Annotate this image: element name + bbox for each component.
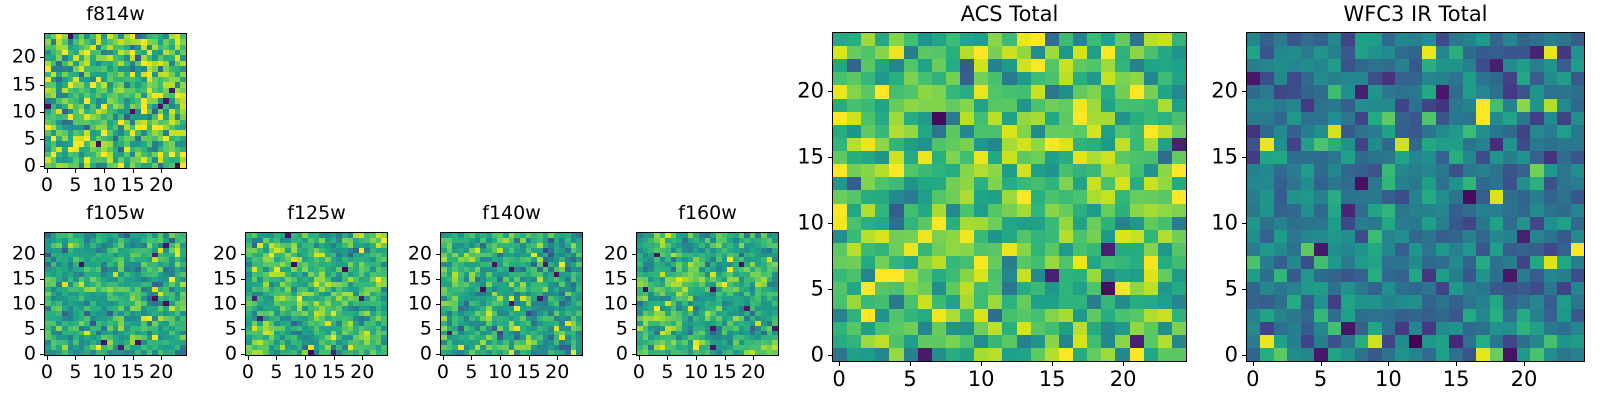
xtick-wfc3-5 [1321, 362, 1322, 366]
xticklabel-f140w-5: 5 [465, 363, 477, 382]
xticklabel-wfc3-15: 15 [1443, 369, 1470, 390]
xticklabel-acs-10: 10 [968, 369, 995, 390]
xticklabel-f125w-10: 10 [293, 363, 317, 382]
yticklabel-f105w-20: 20 [0, 245, 36, 264]
heatmap-image-acs [833, 33, 1186, 361]
heatmap-axes-f105w [44, 232, 187, 356]
xticklabel-f814w-10: 10 [92, 176, 116, 195]
ytick-f125w-15 [241, 279, 245, 280]
xtick-f160w-15 [725, 356, 726, 360]
yticklabel-f814w-5: 5 [0, 130, 36, 149]
heatmap-axes-acs [832, 32, 1187, 362]
xticklabel-f140w-15: 15 [517, 363, 541, 382]
xticklabel-f814w-5: 5 [69, 176, 81, 195]
xtick-f160w-10 [696, 356, 697, 360]
xtick-wfc3-10 [1388, 362, 1389, 366]
heatmap-axes-f814w [44, 33, 187, 169]
xticklabel-acs-15: 15 [1039, 369, 1066, 390]
yticklabel-f105w-0: 0 [0, 344, 36, 363]
ytick-f160w-5 [632, 329, 636, 330]
xtick-acs-5 [910, 362, 911, 366]
yticklabel-wfc3-10: 10 [1196, 213, 1238, 234]
ytick-f140w-20 [436, 254, 440, 255]
xtick-f140w-5 [471, 356, 472, 360]
xticklabel-f160w-5: 5 [661, 363, 673, 382]
xticklabel-acs-0: 0 [832, 369, 845, 390]
xticklabel-f814w-0: 0 [41, 176, 53, 195]
xtick-f160w-0 [639, 356, 640, 360]
panel-f105w: f105w0510152005101520 [0, 0, 1600, 400]
ytick-acs-10 [828, 223, 832, 224]
heatmap-image-wfc3 [1247, 33, 1584, 361]
yticklabel-f140w-10: 10 [390, 294, 432, 313]
heatmap-image-f140w [441, 233, 582, 355]
xtick-acs-15 [1052, 362, 1053, 366]
ytick-wfc3-15 [1242, 157, 1246, 158]
xtick-f125w-15 [334, 356, 335, 360]
xtick-f105w-0 [47, 356, 48, 360]
xtick-wfc3-15 [1456, 362, 1457, 366]
yticklabel-f814w-20: 20 [0, 48, 36, 67]
ytick-f105w-5 [40, 329, 44, 330]
panel-f125w: f125w0510152005101520 [0, 0, 1600, 400]
panel-acs: ACS Total0510152005101520 [0, 0, 1600, 400]
ytick-f140w-0 [436, 354, 440, 355]
xticklabel-acs-20: 20 [1110, 369, 1137, 390]
heatmap-axes-f140w [440, 232, 583, 356]
panel-title-f140w: f140w [440, 204, 583, 223]
ytick-acs-15 [828, 157, 832, 158]
xticklabel-f125w-5: 5 [270, 363, 282, 382]
xticklabel-f814w-15: 15 [121, 176, 145, 195]
yticklabel-f814w-15: 15 [0, 75, 36, 94]
xtick-f814w-0 [47, 169, 48, 173]
xtick-f140w-0 [443, 356, 444, 360]
xticklabel-f160w-15: 15 [713, 363, 737, 382]
yticklabel-acs-15: 15 [782, 147, 824, 168]
xtick-f814w-5 [75, 169, 76, 173]
yticklabel-f160w-20: 20 [586, 245, 628, 264]
panel-title-acs: ACS Total [832, 4, 1187, 25]
ytick-f814w-15 [40, 85, 44, 86]
yticklabel-f814w-0: 0 [0, 157, 36, 176]
yticklabel-f105w-10: 10 [0, 294, 36, 313]
xtick-wfc3-20 [1524, 362, 1525, 366]
heatmap-axes-wfc3 [1246, 32, 1585, 362]
ytick-wfc3-10 [1242, 223, 1246, 224]
heatmap-image-f105w [45, 233, 186, 355]
xticklabel-wfc3-5: 5 [1314, 369, 1327, 390]
heatmap-axes-f160w [636, 232, 779, 356]
yticklabel-wfc3-0: 0 [1196, 345, 1238, 366]
yticklabel-f125w-0: 0 [195, 344, 237, 363]
yticklabel-wfc3-5: 5 [1196, 279, 1238, 300]
xtick-f140w-20 [557, 356, 558, 360]
xticklabel-f105w-5: 5 [69, 363, 81, 382]
yticklabel-f140w-5: 5 [390, 319, 432, 338]
heatmap-image-f125w [246, 233, 387, 355]
xtick-acs-10 [981, 362, 982, 366]
xticklabel-wfc3-20: 20 [1511, 369, 1538, 390]
yticklabel-wfc3-20: 20 [1196, 81, 1238, 102]
xticklabel-f125w-15: 15 [322, 363, 346, 382]
ytick-f814w-10 [40, 112, 44, 113]
xtick-acs-0 [839, 362, 840, 366]
xticklabel-f140w-0: 0 [437, 363, 449, 382]
xticklabel-f160w-20: 20 [741, 363, 765, 382]
yticklabel-acs-5: 5 [782, 279, 824, 300]
ytick-f105w-0 [40, 354, 44, 355]
xtick-f105w-15 [133, 356, 134, 360]
ytick-f160w-20 [632, 254, 636, 255]
xtick-f814w-10 [104, 169, 105, 173]
xtick-f160w-20 [753, 356, 754, 360]
xtick-f125w-10 [305, 356, 306, 360]
ytick-f125w-0 [241, 354, 245, 355]
yticklabel-f140w-20: 20 [390, 245, 432, 264]
xtick-f814w-15 [133, 169, 134, 173]
ytick-f160w-10 [632, 304, 636, 305]
xticklabel-f140w-10: 10 [488, 363, 512, 382]
yticklabel-f140w-15: 15 [390, 270, 432, 289]
ytick-f814w-20 [40, 57, 44, 58]
xtick-f125w-5 [276, 356, 277, 360]
xticklabel-wfc3-10: 10 [1375, 369, 1402, 390]
panel-f140w: f140w0510152005101520 [0, 0, 1600, 400]
xticklabel-f814w-20: 20 [149, 176, 173, 195]
ytick-f140w-15 [436, 279, 440, 280]
panel-title-f160w: f160w [636, 204, 779, 223]
xtick-f160w-5 [667, 356, 668, 360]
xticklabel-f105w-15: 15 [121, 363, 145, 382]
xtick-f125w-0 [248, 356, 249, 360]
xticklabel-acs-5: 5 [903, 369, 916, 390]
ytick-f125w-20 [241, 254, 245, 255]
yticklabel-f160w-15: 15 [586, 270, 628, 289]
panel-title-f125w: f125w [245, 204, 388, 223]
xticklabel-f125w-20: 20 [350, 363, 374, 382]
heatmap-image-f814w [45, 34, 186, 168]
yticklabel-f160w-0: 0 [586, 344, 628, 363]
figure-canvas: f814w0510152005101520f105w05101520051015… [0, 0, 1600, 400]
yticklabel-acs-10: 10 [782, 213, 824, 234]
yticklabel-acs-20: 20 [782, 81, 824, 102]
ytick-f105w-20 [40, 254, 44, 255]
ytick-acs-5 [828, 289, 832, 290]
panel-wfc3: WFC3 IR Total0510152005101520 [0, 0, 1600, 400]
ytick-f814w-0 [40, 166, 44, 167]
panel-f814w: f814w0510152005101520 [0, 0, 1600, 400]
ytick-acs-0 [828, 355, 832, 356]
xticklabel-wfc3-0: 0 [1246, 369, 1259, 390]
yticklabel-f125w-15: 15 [195, 270, 237, 289]
xticklabel-f160w-0: 0 [633, 363, 645, 382]
ytick-f140w-5 [436, 329, 440, 330]
xticklabel-f140w-20: 20 [545, 363, 569, 382]
xticklabel-f160w-10: 10 [684, 363, 708, 382]
yticklabel-f814w-10: 10 [0, 102, 36, 121]
yticklabel-f125w-10: 10 [195, 294, 237, 313]
ytick-f140w-10 [436, 304, 440, 305]
yticklabel-f160w-5: 5 [586, 319, 628, 338]
ytick-f160w-0 [632, 354, 636, 355]
xtick-f125w-20 [362, 356, 363, 360]
yticklabel-f140w-0: 0 [390, 344, 432, 363]
ytick-f105w-10 [40, 304, 44, 305]
xtick-f105w-20 [161, 356, 162, 360]
xtick-wfc3-0 [1253, 362, 1254, 366]
heatmap-image-f160w [637, 233, 778, 355]
xtick-f814w-20 [161, 169, 162, 173]
ytick-f814w-5 [40, 139, 44, 140]
yticklabel-f125w-5: 5 [195, 319, 237, 338]
xticklabel-f125w-0: 0 [242, 363, 254, 382]
yticklabel-f125w-20: 20 [195, 245, 237, 264]
yticklabel-f105w-5: 5 [0, 319, 36, 338]
yticklabel-wfc3-15: 15 [1196, 147, 1238, 168]
xtick-acs-20 [1123, 362, 1124, 366]
ytick-wfc3-5 [1242, 289, 1246, 290]
ytick-wfc3-20 [1242, 91, 1246, 92]
xtick-f140w-10 [500, 356, 501, 360]
panel-title-wfc3: WFC3 IR Total [1246, 4, 1585, 25]
xticklabel-f105w-20: 20 [149, 363, 173, 382]
panel-title-f105w: f105w [44, 204, 187, 223]
xtick-f105w-10 [104, 356, 105, 360]
ytick-f105w-15 [40, 279, 44, 280]
ytick-wfc3-0 [1242, 355, 1246, 356]
xticklabel-f105w-0: 0 [41, 363, 53, 382]
panel-f160w: f160w0510152005101520 [0, 0, 1600, 400]
yticklabel-acs-0: 0 [782, 345, 824, 366]
yticklabel-f160w-10: 10 [586, 294, 628, 313]
heatmap-axes-f125w [245, 232, 388, 356]
ytick-f125w-10 [241, 304, 245, 305]
xtick-f140w-15 [529, 356, 530, 360]
ytick-acs-20 [828, 91, 832, 92]
panel-title-f814w: f814w [44, 5, 187, 24]
xticklabel-f105w-10: 10 [92, 363, 116, 382]
ytick-f125w-5 [241, 329, 245, 330]
yticklabel-f105w-15: 15 [0, 270, 36, 289]
ytick-f160w-15 [632, 279, 636, 280]
xtick-f105w-5 [75, 356, 76, 360]
